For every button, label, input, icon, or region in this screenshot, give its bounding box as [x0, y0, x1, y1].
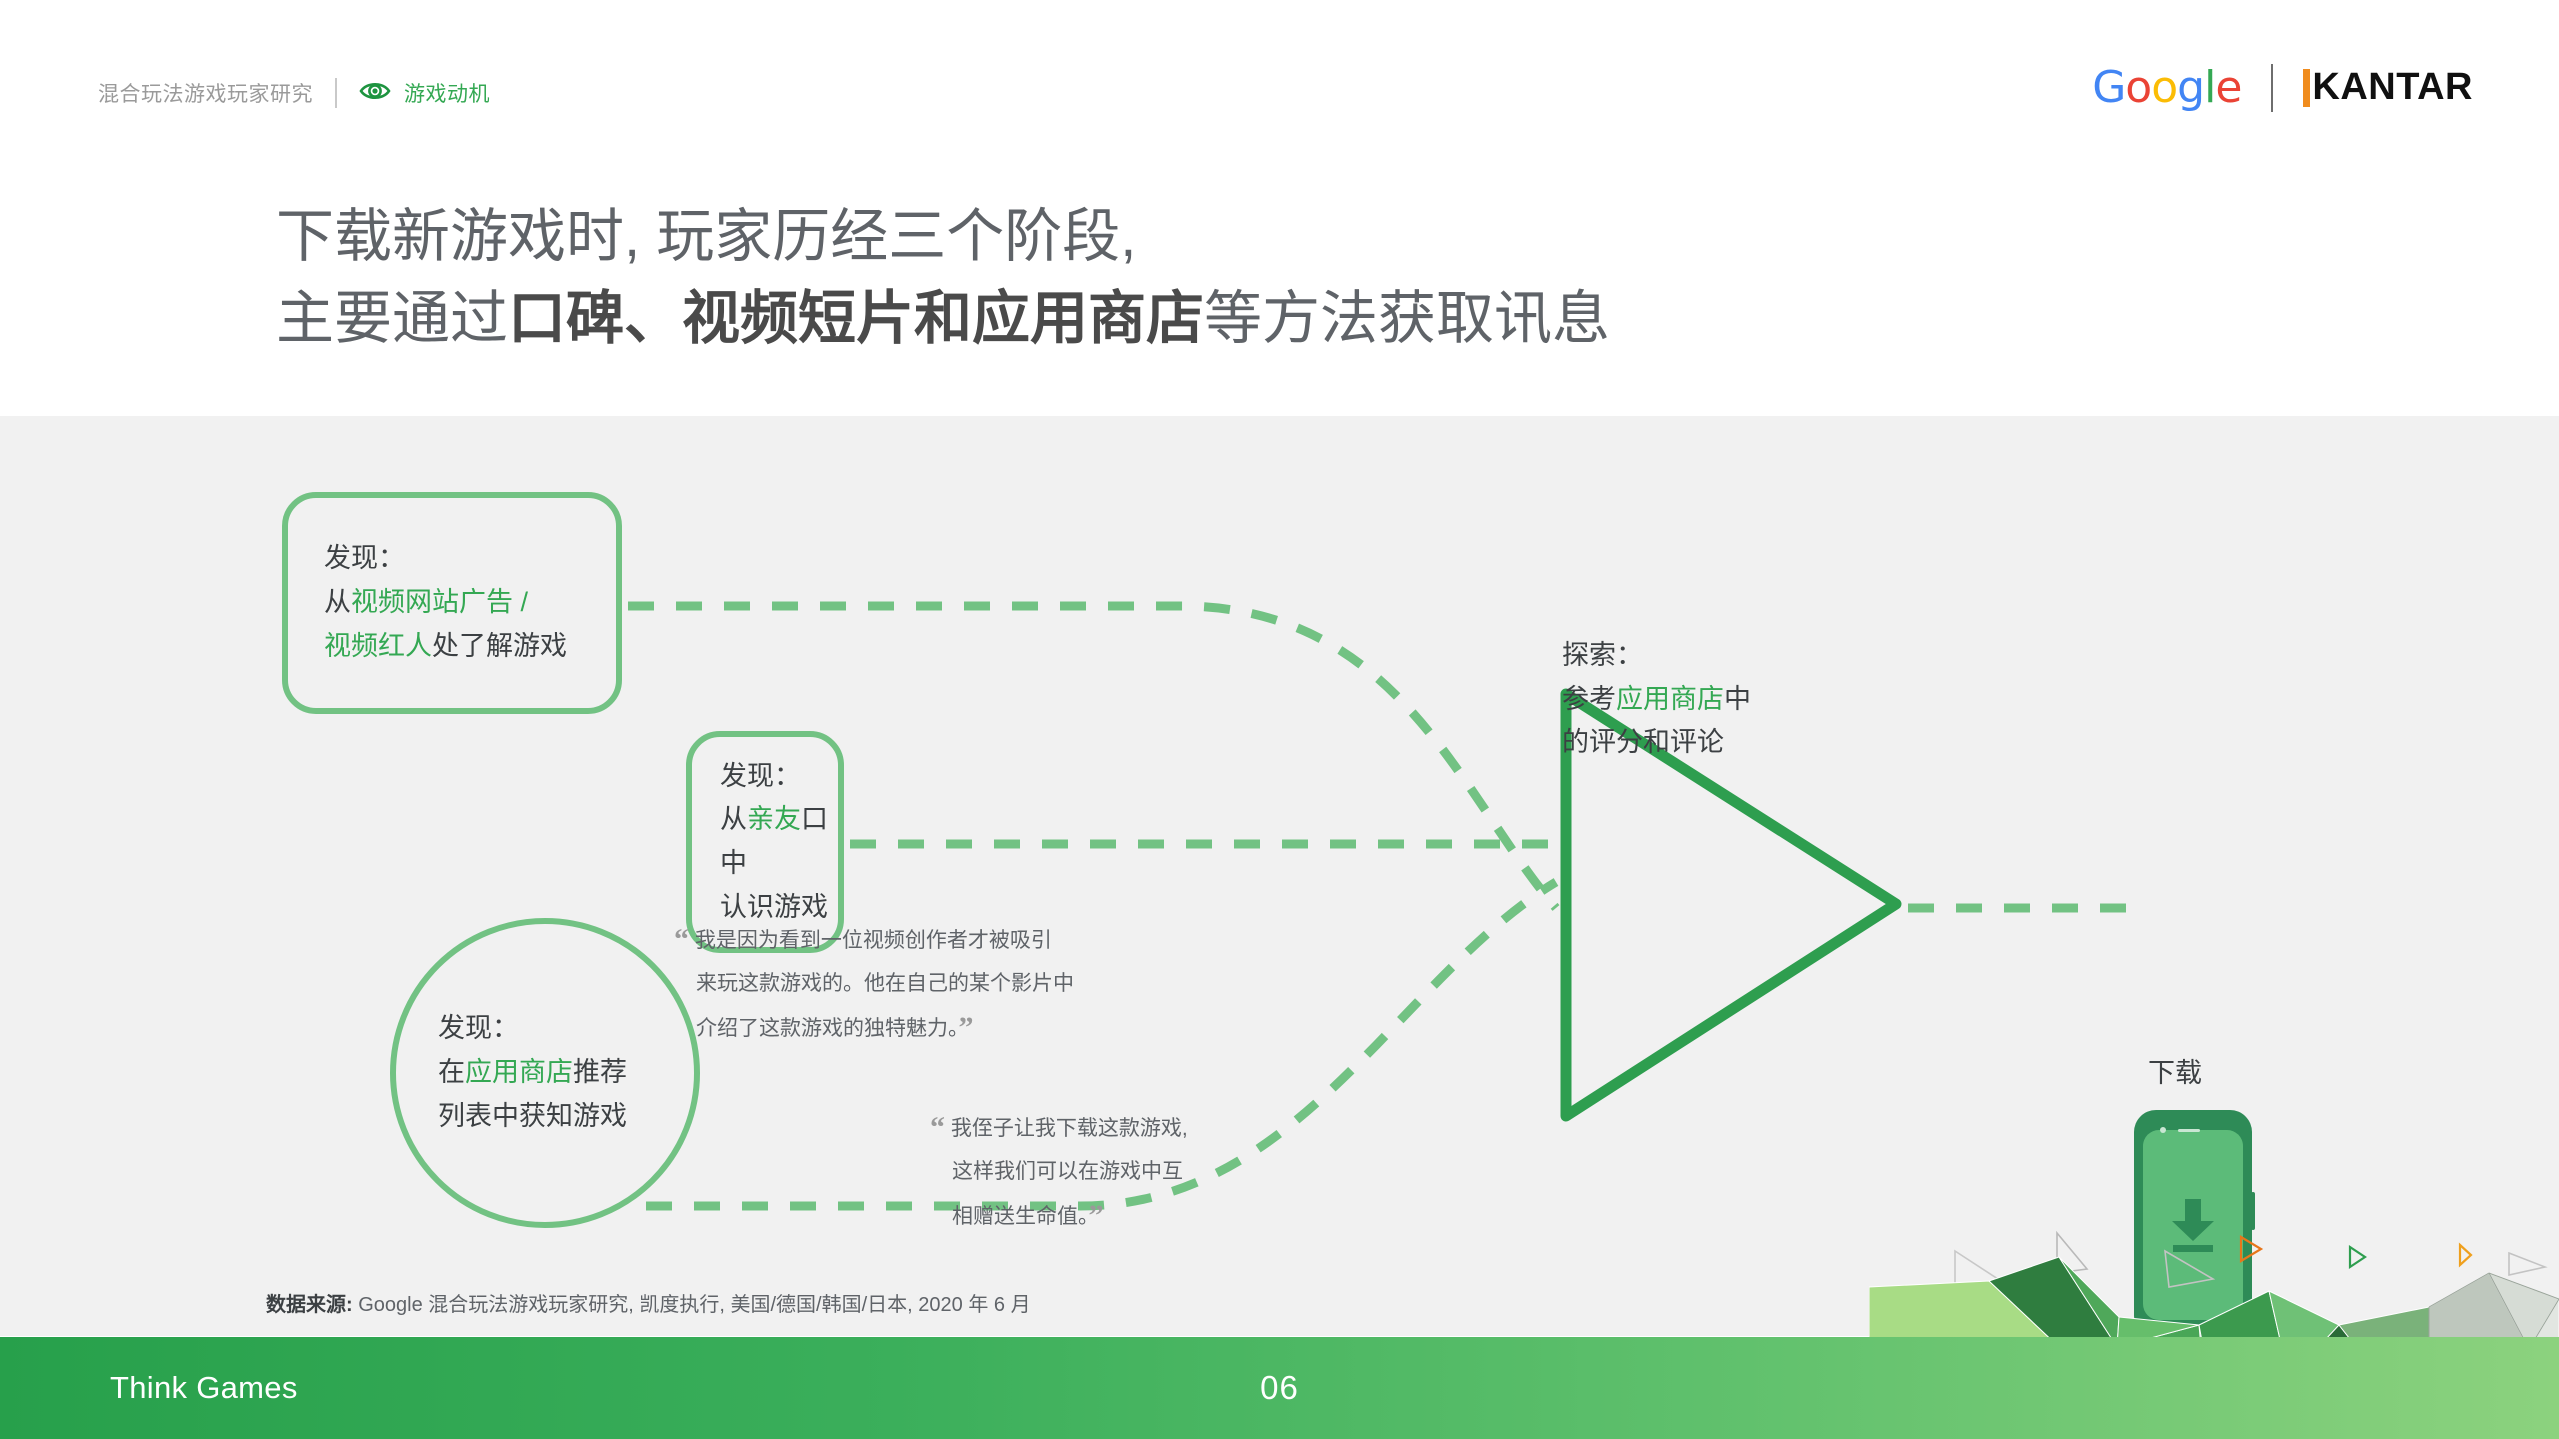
source-note: 数据来源: Google 混合玩法游戏玩家研究, 凯度执行, 美国/德国/韩国/…	[266, 1288, 1031, 1317]
download-arrow-icon	[2162, 1193, 2224, 1257]
phone-speaker-bar	[2178, 1129, 2200, 1132]
title-line-2-pre: 主要通过	[276, 286, 508, 351]
title-line-2-post: 等方法获取讯息	[1204, 286, 1610, 351]
flow-node-explore-text: 探索： 参考应用商店中 的评分和评论	[1562, 634, 1902, 765]
flow-node-store-heading: 发现：	[438, 1007, 627, 1051]
quote-video-text1: 我是因为看到一位视频创作者才被吸引	[695, 929, 1052, 952]
flow-node-explore-line2: 的评分和评论	[1562, 721, 1902, 765]
kantar-accent-bar	[2303, 69, 2310, 107]
flow-node-store-text: 发现： 在应用商店推荐 列表中获知游戏	[438, 1007, 627, 1138]
flow-node-explore-line1: 参考应用商店中	[1562, 678, 1902, 722]
flow-node-video-line2-post: 处了解游戏	[432, 631, 567, 661]
header-right: Google KANTAR	[2092, 62, 2473, 113]
flow-node-friends-line1-green: 亲友	[747, 804, 801, 834]
quote-friends-line1: “ 我侄子让我下载这款游戏,	[930, 1102, 1260, 1154]
phone-device-icon[interactable]	[2134, 1110, 2252, 1338]
quote-video-line1: “ 我是因为看到一位视频创作者才被吸引	[674, 914, 1134, 966]
page-title: 下载新游戏时, 玩家历经三个阶段, 主要通过口碑、视频短片和应用商店等方法获取讯…	[276, 196, 2176, 361]
flow-node-video-heading: 发现：	[324, 537, 567, 581]
flow-node-store-discovery[interactable]: 发现： 在应用商店推荐 列表中获知游戏	[390, 918, 700, 1228]
header-right-divider	[2271, 64, 2273, 112]
flow-node-friends-text: 发现： 从亲友口中 认识游戏	[720, 755, 838, 930]
google-logo-o2: o	[2151, 62, 2177, 113]
flow-node-friends-line1: 从亲友口中	[720, 798, 838, 885]
header-left: 混合玩法游戏玩家研究 游戏动机	[98, 78, 490, 108]
flow-node-video-line1-pre: 从	[324, 587, 351, 617]
quote-open-mark: “	[674, 923, 689, 956]
quote-video-line2: 来玩这款游戏的。他在自己的某个影片中	[674, 966, 1134, 1002]
flow-node-store-line1-post: 推荐	[573, 1057, 627, 1087]
google-logo: Google	[2092, 62, 2241, 113]
google-logo-e: e	[2215, 62, 2241, 113]
kantar-logo: KANTAR	[2303, 66, 2473, 109]
google-logo-g2: g	[2177, 62, 2204, 113]
google-logo-g1: G	[2092, 62, 2125, 113]
quote-friends-line2: 这样我们可以在游戏中互	[930, 1154, 1260, 1190]
title-line-2-emphasis: 口碑、视频短片和应用商店	[508, 286, 1204, 351]
footer-page-number: 06	[1260, 1369, 1299, 1407]
quote-friends: “ 我侄子让我下载这款游戏, 这样我们可以在游戏中互 相赠送生命值。”	[930, 1102, 1260, 1241]
flow-node-store-line1: 在应用商店推荐	[438, 1051, 627, 1095]
flow-node-video-line1: 从视频网站广告 /	[324, 581, 567, 625]
google-logo-l: l	[2204, 62, 2215, 113]
google-logo-o1: o	[2125, 62, 2151, 113]
source-text: Google 混合玩法游戏玩家研究, 凯度执行, 美国/德国/韩国/日本, 20…	[353, 1294, 1031, 1316]
quote-friends-text1: 我侄子让我下载这款游戏,	[951, 1117, 1188, 1140]
flow-node-store-line2: 列表中获知游戏	[438, 1095, 627, 1139]
header-topic: 游戏动机	[359, 78, 490, 108]
flow-node-explore-line1-post: 中	[1724, 684, 1751, 714]
title-line-2: 主要通过口碑、视频短片和应用商店等方法获取讯息	[276, 278, 2176, 360]
flow-node-video-line2-green: 视频红人	[324, 631, 432, 661]
flow-node-video-line1-green: 视频网站广告 /	[351, 587, 528, 617]
flow-node-video-line2: 视频红人处了解游戏	[324, 625, 567, 669]
title-line-1: 下载新游戏时, 玩家历经三个阶段,	[276, 196, 2176, 278]
header-divider	[335, 78, 337, 108]
flow-node-friends-heading: 发现：	[720, 755, 838, 799]
flow-node-explore[interactable]: 探索： 参考应用商店中 的评分和评论	[1562, 634, 1902, 794]
quote-video-text3: 介绍了这款游戏的独特魅力。	[696, 1017, 959, 1040]
quote-friends-line3: 相赠送生命值。”	[930, 1190, 1260, 1242]
phone-camera-dot	[2160, 1127, 2166, 1133]
source-label: 数据来源:	[266, 1294, 353, 1316]
eye-icon	[359, 80, 391, 107]
quote-close-mark: ”	[1089, 1199, 1104, 1232]
kantar-logo-text: KANTAR	[2312, 66, 2473, 109]
quote-video-line3: 介绍了这款游戏的独特魅力。”	[674, 1002, 1134, 1054]
footer-bar: Think Games 06	[0, 1337, 2559, 1439]
flow-node-video-discovery[interactable]: 发现： 从视频网站广告 / 视频红人处了解游戏	[282, 492, 622, 714]
flow-node-explore-heading: 探索：	[1562, 634, 1902, 678]
flow-diagram-band: 发现： 从视频网站广告 / 视频红人处了解游戏 发现： 从亲友口中 认识游戏 发…	[0, 416, 2559, 1336]
flow-node-explore-line1-green: 应用商店	[1616, 684, 1724, 714]
header-topic-label: 游戏动机	[404, 78, 490, 108]
flow-node-explore-line1-pre: 参考	[1562, 684, 1616, 714]
phone-screen	[2143, 1130, 2243, 1320]
download-label: 下载	[2148, 1051, 2202, 1090]
footer-brand: Think Games	[110, 1370, 298, 1406]
quote-friends-text3: 相赠送生命值。	[952, 1205, 1089, 1228]
flow-node-store-line1-pre: 在	[438, 1057, 465, 1087]
quote-video: “ 我是因为看到一位视频创作者才被吸引 来玩这款游戏的。他在自己的某个影片中 介…	[674, 914, 1134, 1053]
slide-root: 混合玩法游戏玩家研究 游戏动机 Google KANTAR 下载新游戏时, 玩家…	[0, 0, 2559, 1439]
phone-side-button	[2251, 1192, 2255, 1230]
flow-node-friends-line1-pre: 从	[720, 804, 747, 834]
quote-open-mark: “	[930, 1111, 945, 1144]
flow-node-video-text: 发现： 从视频网站广告 / 视频红人处了解游戏	[324, 537, 567, 668]
quote-close-mark: ”	[959, 1011, 974, 1044]
flow-node-store-line1-green: 应用商店	[465, 1057, 573, 1087]
header-study-label: 混合玩法游戏玩家研究	[98, 78, 313, 108]
